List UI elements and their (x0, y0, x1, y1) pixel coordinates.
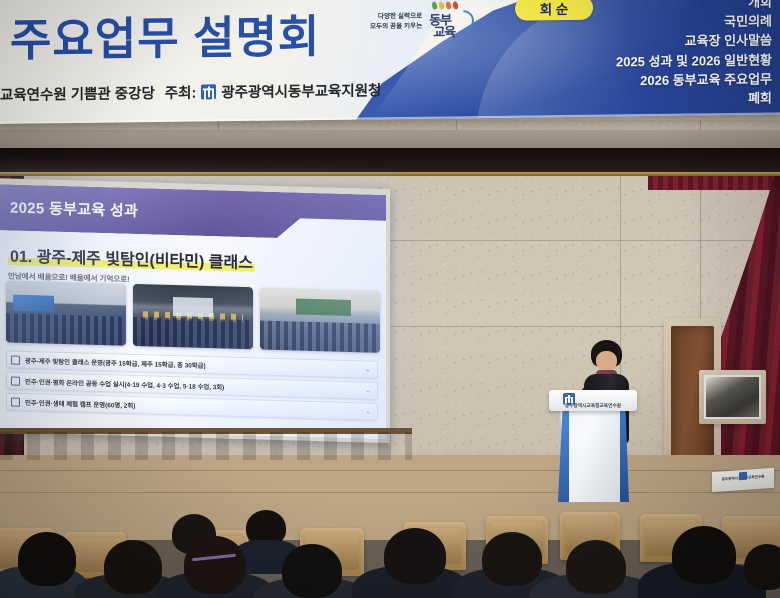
banner-title: 주요업무 설명회 (10, 0, 390, 69)
slide-header-title: 2025 동부교육 성과 (10, 197, 138, 222)
audience-area (0, 470, 780, 598)
attendee-head (384, 528, 446, 584)
slogan-mark: 동부 교육 (426, 1, 474, 42)
banner-venue: 교육연수원 기쁨관 중강당 (0, 82, 155, 105)
presentation-slide: 2025 동부교육 성과 01. 광주-제주 빛탐인(비타민) 클래스 만남에서… (0, 184, 386, 439)
slide-photo (6, 280, 126, 345)
attendee-head (18, 532, 76, 586)
chevron-down-icon: ⌄ (365, 407, 371, 415)
banner-host: 주최: 광주광역시동부교육지원청 (165, 79, 382, 103)
auditorium-photo-scene: 주요업무 설명회 교육연수원 기쁨관 중강당 주최: 광주광역시동부교육지원청 … (0, 0, 780, 598)
window-icon (699, 370, 766, 424)
lectern-label: 광주광역시교육청교육연수원 (552, 403, 634, 409)
agenda-item: 2026 동부교육 주요업무 (522, 69, 772, 91)
slide-bullet-list: 광주-제주 빛탐인 클래스 운영(광주 15학급, 제주 15학급, 총 30학… (6, 350, 378, 420)
chevron-down-icon: ⌄ (365, 365, 371, 373)
bullet-marker-icon (11, 397, 20, 406)
agenda-item: 폐회 (522, 89, 772, 111)
event-banner: 주요업무 설명회 교육연수원 기쁨관 중강당 주최: 광주광역시동부교육지원청 … (0, 0, 780, 124)
bullet-text: 민주·인권·생태 체험 캠프 운영(60명, 2회) (25, 397, 135, 409)
agenda-list: 개회 국민의례 교육장 인사말씀 2025 성과 및 2026 일반현황 202… (522, 0, 772, 111)
slide-photo (260, 287, 380, 352)
gwangju-education-logo-icon (201, 84, 216, 99)
slogan-dots-icon (432, 1, 458, 9)
attendee-head (184, 536, 246, 594)
stage-front-panel (0, 432, 412, 460)
host-label: 주최: (165, 82, 197, 103)
slogan-line-2: 모두의 꿈을 키우는 (370, 22, 422, 33)
bullet-marker-icon (11, 355, 20, 364)
slogan-line-1: 다양한 실력으로 (370, 12, 422, 23)
bullet-marker-icon (11, 376, 20, 385)
attendee-head (566, 540, 626, 594)
bullet-text: 민주·인권·평화 온라인 공동 수업 실시(4·19 수업, 4·3 수업, 5… (25, 376, 224, 391)
bullet-text: 광주-제주 빛탐인 클래스 운영(광주 15학급, 제주 15학급, 총 30학… (25, 355, 206, 369)
slide-photo-row (6, 280, 380, 352)
presenter-face (596, 351, 617, 371)
slogan-text: 다양한 실력으로 모두의 꿈을 키우는 (370, 12, 422, 32)
slide-photo (133, 284, 253, 349)
attendee-head (744, 544, 780, 590)
host-name: 광주광역시동부교육지원청 (221, 79, 381, 102)
slide-subtitle: 01. 광주-제주 빛탐인(비타민) 클래스 (8, 242, 255, 273)
curtain-valance (648, 176, 780, 190)
attendee-head (672, 526, 736, 584)
projection-screen: 2025 동부교육 성과 01. 광주-제주 빛탐인(비타민) 클래스 만남에서… (0, 178, 390, 443)
attendee-head (282, 544, 342, 598)
agenda-item: 교육장 인사말씀 (522, 31, 772, 53)
slogan-mark-bottom: 교육 (433, 21, 455, 40)
attendee-head (104, 540, 162, 594)
dongbu-education-logo-icon: 다양한 실력으로 모두의 꿈을 키우는 동부 교육 (370, 0, 490, 43)
attendee-head (482, 532, 542, 586)
chevron-down-icon: ⌄ (365, 386, 371, 394)
